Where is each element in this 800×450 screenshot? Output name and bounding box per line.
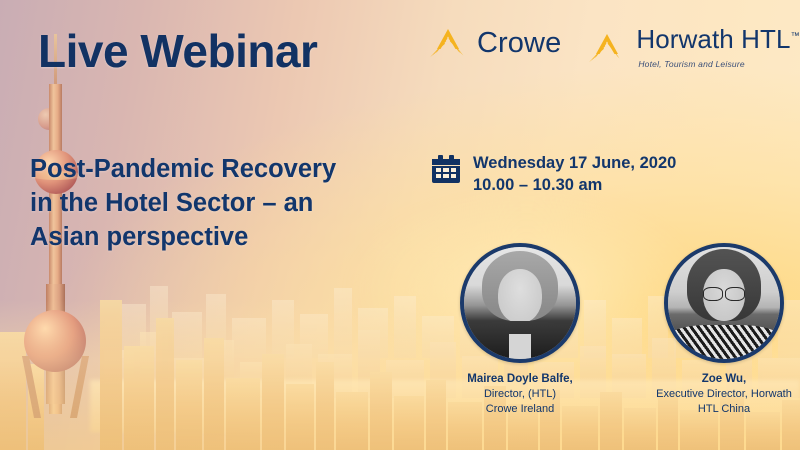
event-datetime-text: Wednesday 17 June, 2020 10.00 – 10.30 am <box>473 152 676 196</box>
webinar-headline: Post-Pandemic Recovery in the Hotel Sect… <box>30 152 430 254</box>
speaker-card: Zoe Wu, Executive Director, Horwath HTL … <box>644 243 800 417</box>
calendar-icon <box>432 155 460 183</box>
speaker-name: Mairea Doyle Balfe, <box>440 372 600 387</box>
avatar <box>460 243 580 363</box>
trademark-mark: ™ <box>791 30 800 40</box>
speaker-role: Executive Director, Horwath HTL China <box>644 387 800 417</box>
horwath-wordmark-text: Horwath HTL <box>636 24 790 54</box>
horwath-chevron-icon <box>587 31 627 65</box>
crowe-chevron-icon <box>428 26 468 60</box>
headline-line-1: Post-Pandemic Recovery <box>30 152 430 186</box>
horwath-wordmark: Horwath HTL™ <box>636 26 799 52</box>
portrait-zoe-wu <box>668 247 780 359</box>
crowe-wordmark: Crowe <box>477 29 561 58</box>
speaker-role: Director, (HTL) Crowe Ireland <box>440 387 600 417</box>
speaker-card: Mairea Doyle Balfe, Director, (HTL) Crow… <box>440 243 600 417</box>
headline-line-3: Asian perspective <box>30 220 430 254</box>
logo-row: Crowe Horwath HTL™ Hotel, Tourism and Le… <box>428 26 800 69</box>
avatar <box>664 243 784 363</box>
speaker-name: Zoe Wu, <box>644 372 800 387</box>
event-datetime: Wednesday 17 June, 2020 10.00 – 10.30 am <box>432 152 676 196</box>
speaker-list: Mairea Doyle Balfe, Director, (HTL) Crow… <box>440 243 800 417</box>
horwath-tagline: Hotel, Tourism and Leisure <box>638 59 799 69</box>
crowe-logo[interactable]: Crowe <box>428 26 561 60</box>
event-date: Wednesday 17 June, 2020 <box>473 152 676 174</box>
headline-line-2: in the Hotel Sector – an <box>30 186 430 220</box>
portrait-mairea-doyle-balfe <box>464 247 576 359</box>
page-title: Live Webinar <box>38 24 317 78</box>
webinar-poster: Live Webinar Crowe Horwath HT <box>0 0 800 450</box>
event-time: 10.00 – 10.30 am <box>473 174 676 196</box>
horwath-htl-logo[interactable]: Horwath HTL™ Hotel, Tourism and Leisure <box>587 26 799 69</box>
